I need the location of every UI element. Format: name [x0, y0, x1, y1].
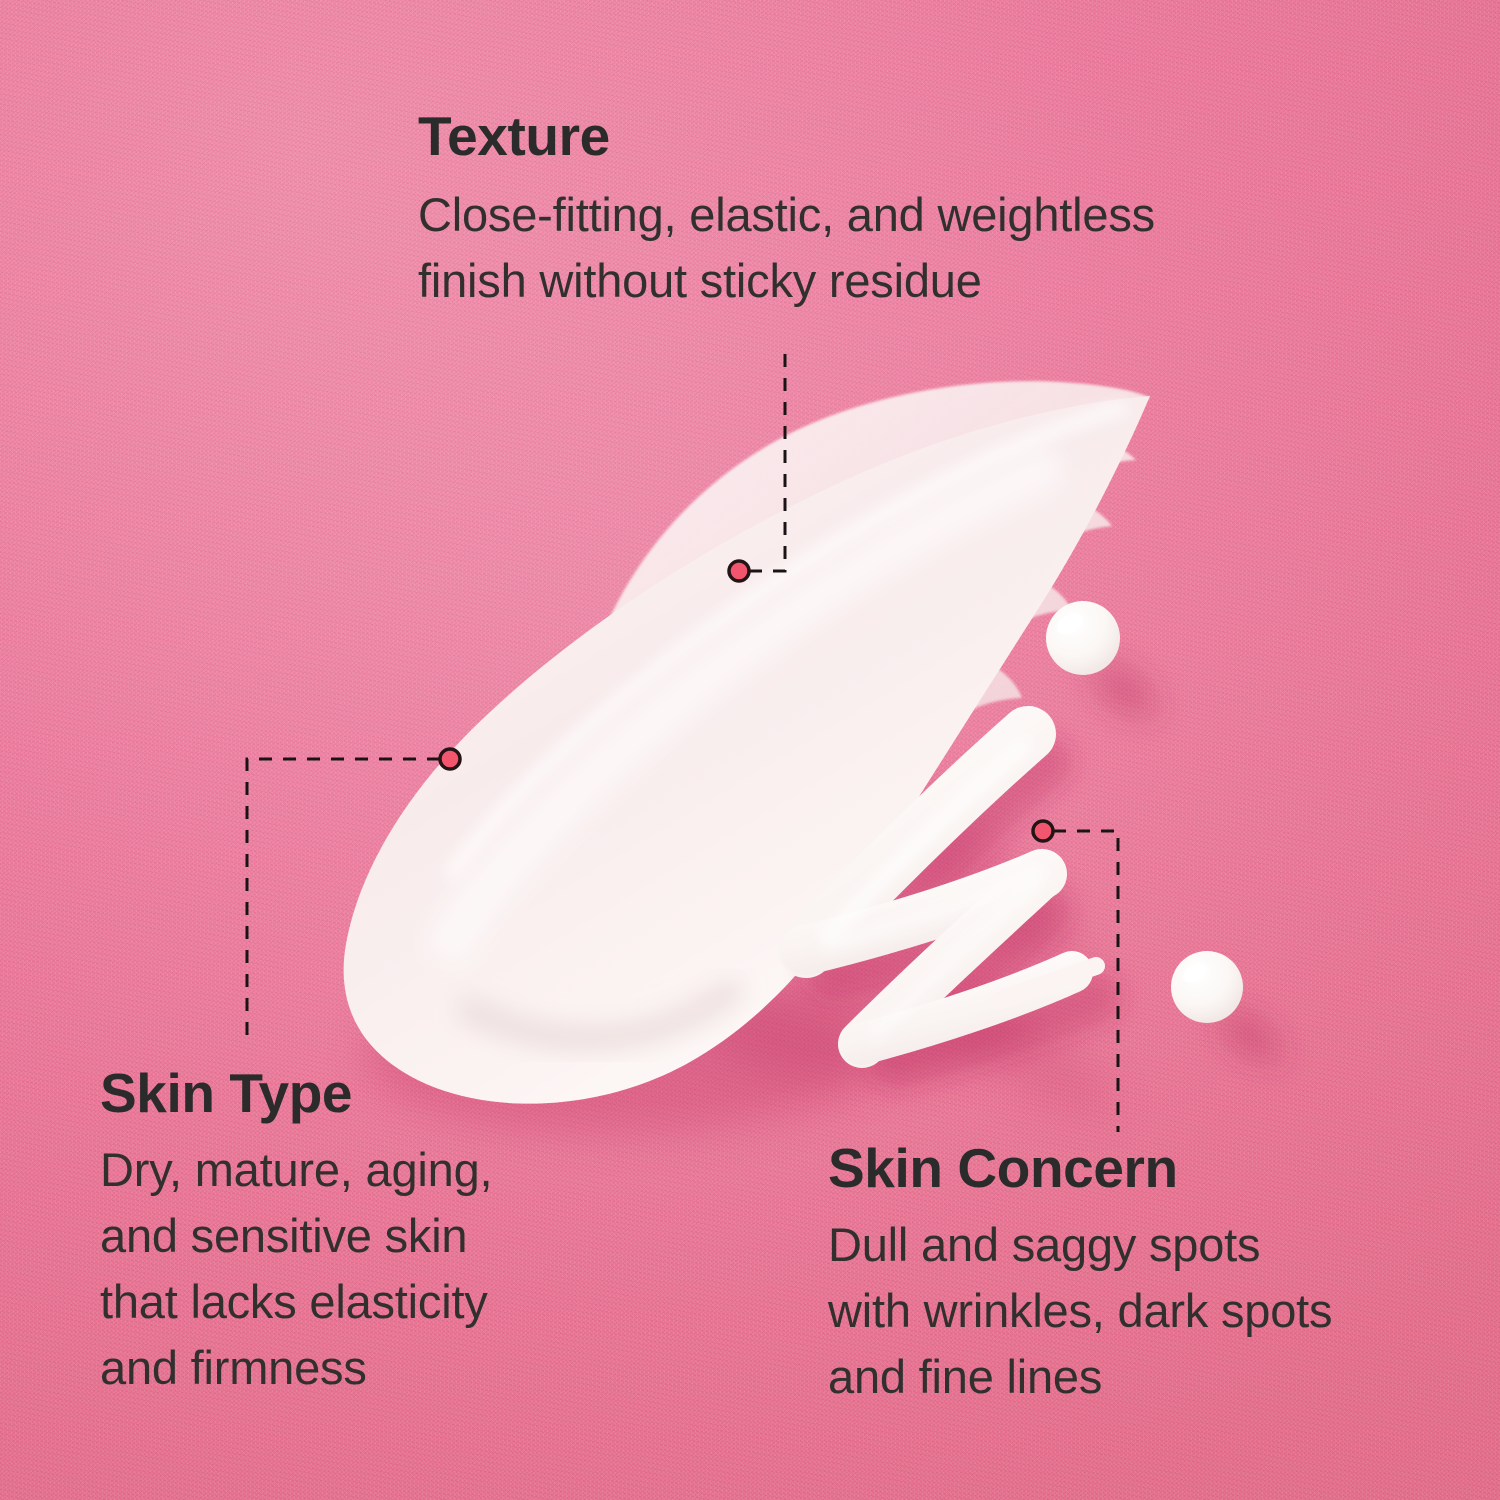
callout-texture-body: Close-fitting, elastic, and weightless f…	[418, 182, 1155, 314]
callout-skin-type-body-line-4: and firmness	[100, 1335, 492, 1401]
callout-skin-type-body-line-3: that lacks elasticity	[100, 1269, 492, 1335]
callout-skin-concern-heading: Skin Concern	[828, 1140, 1332, 1198]
skin-type-marker-dot[interactable]	[440, 749, 460, 769]
callout-skin-type-body-line-2: and sensitive skin	[100, 1203, 492, 1269]
callout-texture-heading: Texture	[418, 108, 1155, 166]
skin-concern-marker-dot[interactable]	[1033, 821, 1053, 841]
callout-texture-body-line-1: Close-fitting, elastic, and weightless	[418, 182, 1155, 248]
cream-droplet-upper	[1046, 601, 1189, 751]
callout-skin-type-heading: Skin Type	[100, 1065, 492, 1123]
callout-skin-type: Skin Type Dry, mature, aging, and sensit…	[100, 1065, 492, 1401]
callout-skin-concern-body-line-2: with wrinkles, dark spots	[828, 1278, 1332, 1344]
callout-skin-type-body-line-1: Dry, mature, aging,	[100, 1137, 492, 1203]
cream-droplet-lower	[1171, 951, 1312, 1094]
callout-skin-concern-body: Dull and saggy spots with wrinkles, dark…	[828, 1212, 1332, 1410]
infographic-canvas: Texture Close-fitting, elastic, and weig…	[0, 0, 1500, 1500]
texture-marker-dot[interactable]	[729, 561, 749, 581]
callout-skin-concern: Skin Concern Dull and saggy spots with w…	[828, 1140, 1332, 1410]
callout-texture: Texture Close-fitting, elastic, and weig…	[418, 108, 1155, 314]
callout-skin-concern-body-line-3: and fine lines	[828, 1344, 1332, 1410]
callout-skin-concern-body-line-1: Dull and saggy spots	[828, 1212, 1332, 1278]
callout-skin-type-body: Dry, mature, aging, and sensitive skin t…	[100, 1137, 492, 1401]
callout-texture-body-line-2: finish without sticky residue	[418, 248, 1155, 314]
